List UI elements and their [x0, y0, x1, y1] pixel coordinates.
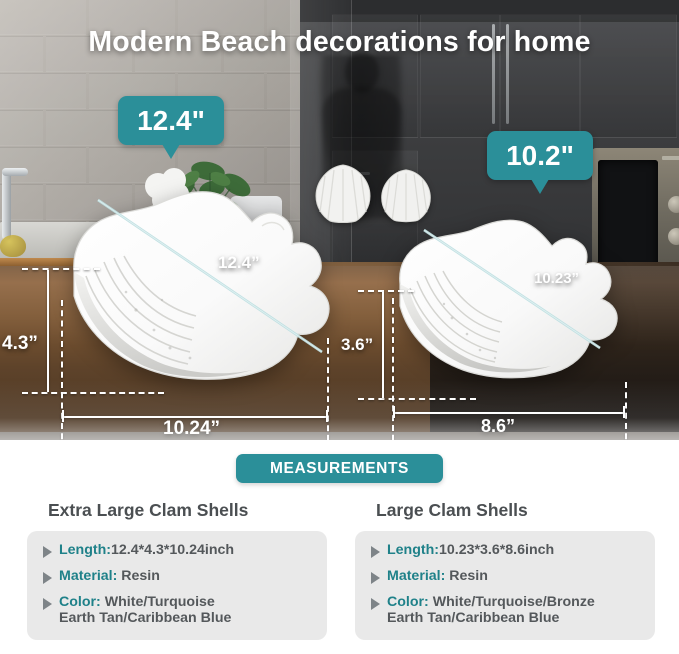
spec-value-color: White/Turquoise/Bronze [429, 594, 595, 610]
product-infographic: 12.4” 4.3” 10.24” 10.23” 3.6” 8.6” 12.4"… [0, 0, 679, 654]
triangle-bullet-icon [43, 598, 52, 610]
triangle-bullet-icon [43, 572, 52, 584]
extra-large-height-callout-value: 12.4" [137, 105, 205, 137]
large-height-callout: 10.2" [487, 131, 593, 180]
spec-value-color: White/Turquoise [101, 594, 215, 610]
spec-row-color: Color: White/Turquoise/Bronze Earth Tan/… [365, 594, 645, 628]
spec-value-length: 10.23*3.6*8.6inch [439, 542, 554, 558]
extra-large-height-callout: 12.4" [118, 96, 224, 145]
large-clam-shells-card: Large Clam Shells Length:10.23*3.6*8.6in… [355, 500, 655, 640]
measurements-badge: MEASUREMENTS [236, 454, 443, 483]
spec-row-length: Length:10.23*3.6*8.6inch [365, 542, 645, 559]
kitchen-photo-background: 12.4” 4.3” 10.24” 10.23” 3.6” 8.6” 12.4"… [0, 0, 679, 480]
spec-label-color: Color: [387, 594, 429, 610]
xl-top-guide [22, 268, 100, 270]
spec-label-length: Length: [387, 542, 439, 558]
spec-label-material: Material: [59, 568, 117, 584]
spec-row-color: Color: White/Turquoise Earth Tan/Caribbe… [37, 594, 317, 628]
large-height-callout-value: 10.2" [506, 140, 574, 172]
l-diagonal-label: 10.23” [534, 270, 579, 287]
spec-row-material: Material: Resin [365, 568, 645, 585]
measurements-section: MEASUREMENTS Extra Large Clam Shells Len… [0, 440, 679, 654]
page-title: Modern Beach decorations for home [0, 26, 679, 59]
spec-value-color-line2: Earth Tan/Caribbean Blue [59, 610, 231, 626]
spec-label-length: Length: [59, 542, 111, 558]
callout-pointer-icon [162, 144, 180, 159]
spec-row-length: Length:12.4*4.3*10.24inch [37, 542, 317, 559]
large-card-title: Large Clam Shells [376, 500, 655, 521]
xl-height-line [47, 270, 49, 392]
l-height-label: 3.6” [341, 335, 373, 355]
triangle-bullet-icon [371, 572, 380, 584]
spec-value-material: Resin [445, 568, 488, 584]
l-top-guide [358, 290, 414, 292]
spec-label-color: Color: [59, 594, 101, 610]
triangle-bullet-icon [371, 598, 380, 610]
spec-value-color-line2: Earth Tan/Caribbean Blue [387, 610, 559, 626]
spec-value-length: 12.4*4.3*10.24inch [111, 542, 234, 558]
extra-large-card-title: Extra Large Clam Shells [48, 500, 327, 521]
spec-value-material: Resin [117, 568, 160, 584]
extra-large-spec-panel: Length:12.4*4.3*10.24inch Material: Resi… [27, 531, 327, 640]
spec-label-material: Material: [387, 568, 445, 584]
measurements-badge-label: MEASUREMENTS [270, 460, 409, 478]
large-spec-panel: Length:10.23*3.6*8.6inch Material: Resin… [355, 531, 655, 640]
triangle-bullet-icon [371, 546, 380, 558]
spec-row-material: Material: Resin [37, 568, 317, 585]
callout-pointer-icon [531, 179, 549, 194]
xl-height-label: 4.3” [2, 333, 38, 355]
triangle-bullet-icon [43, 546, 52, 558]
extra-large-clam-shells-card: Extra Large Clam Shells Length:12.4*4.3*… [27, 500, 327, 640]
xl-diagonal-label: 12.4” [218, 253, 260, 273]
